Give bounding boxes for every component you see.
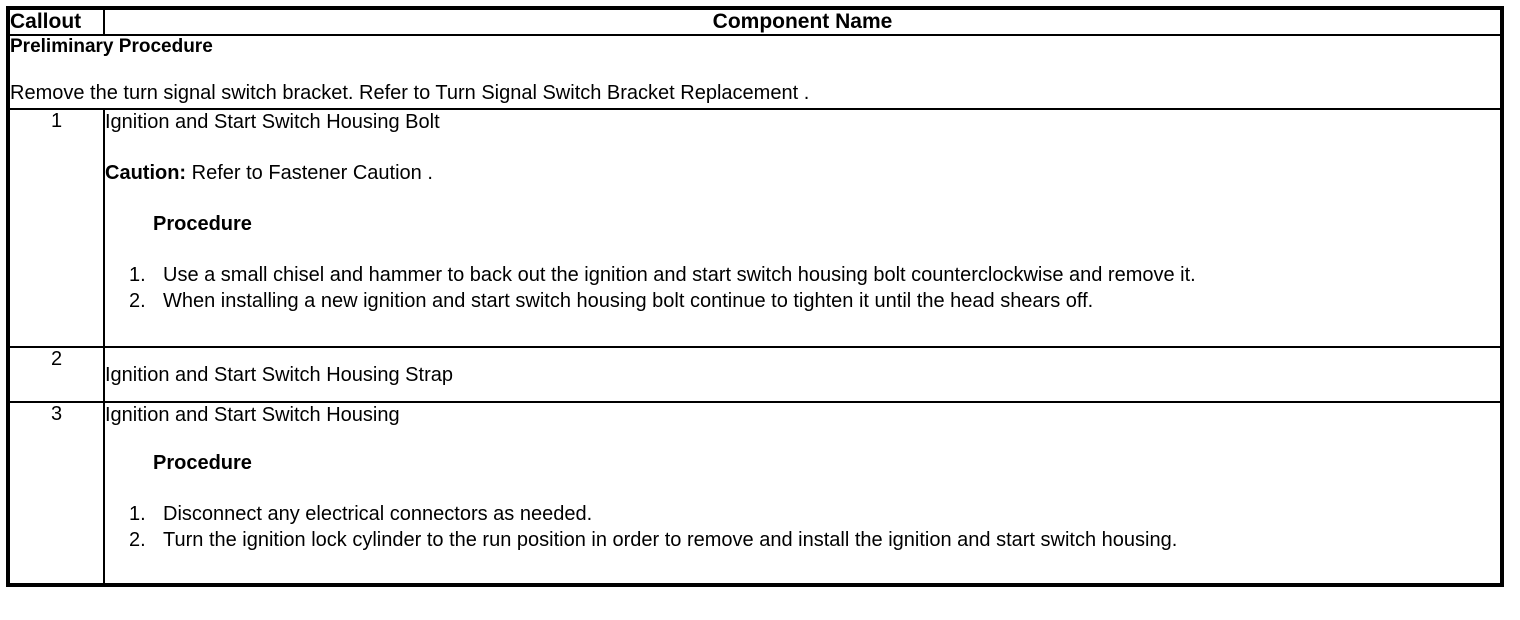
procedure-heading: Procedure: [105, 212, 1500, 236]
preliminary-procedure-row: Preliminary Procedure Remove the turn si…: [8, 35, 1502, 109]
table-row: 2 Ignition and Start Switch Housing Stra…: [8, 347, 1502, 402]
procedure-step: Use a small chisel and hammer to back ou…: [129, 262, 1500, 288]
component-detail-cell: Ignition and Start Switch Housing Strap: [104, 347, 1502, 402]
table-header-row: Callout Component Name: [8, 8, 1502, 35]
table-body: Preliminary Procedure Remove the turn si…: [8, 35, 1502, 585]
table-row: 1 Ignition and Start Switch Housing Bolt…: [8, 109, 1502, 347]
component-name-text: Ignition and Start Switch Housing Strap: [105, 363, 1500, 387]
component-detail-cell: Ignition and Start Switch Housing Proced…: [104, 402, 1502, 585]
procedure-step-list: Use a small chisel and hammer to back ou…: [105, 262, 1500, 315]
preliminary-procedure-cell: Preliminary Procedure Remove the turn si…: [8, 35, 1502, 109]
component-detail-cell: Ignition and Start Switch Housing Bolt C…: [104, 109, 1502, 347]
preliminary-procedure-title: Preliminary Procedure: [10, 36, 1500, 58]
procedure-step: Disconnect any electrical connectors as …: [129, 501, 1500, 527]
document-sheet: Callout Component Name Preliminary Proce…: [0, 0, 1520, 620]
table-row: 3 Ignition and Start Switch Housing Proc…: [8, 402, 1502, 585]
procedure-heading: Procedure: [105, 451, 1500, 475]
table-header: Callout Component Name: [8, 8, 1502, 35]
preliminary-procedure-text: Remove the turn signal switch bracket. R…: [10, 82, 1500, 106]
callout-number: 3: [8, 402, 104, 585]
callout-number: 1: [8, 109, 104, 347]
procedure-step: Turn the ignition lock cylinder to the r…: [129, 527, 1500, 553]
procedure-step-list: Disconnect any electrical connectors as …: [105, 501, 1500, 554]
component-name-text: Ignition and Start Switch Housing: [105, 403, 1500, 427]
callout-number: 2: [8, 347, 104, 402]
column-header-callout: Callout: [8, 8, 104, 35]
caution-label: Caution:: [105, 162, 186, 184]
caution-text: Refer to Fastener Caution .: [186, 162, 433, 184]
caution-note: Caution: Refer to Fastener Caution .: [105, 161, 1500, 185]
procedure-step: When installing a new ignition and start…: [129, 288, 1500, 314]
component-procedure-table: Callout Component Name Preliminary Proce…: [6, 6, 1504, 587]
column-header-component-name: Component Name: [104, 8, 1502, 35]
component-name-text: Ignition and Start Switch Housing Bolt: [105, 110, 1500, 134]
